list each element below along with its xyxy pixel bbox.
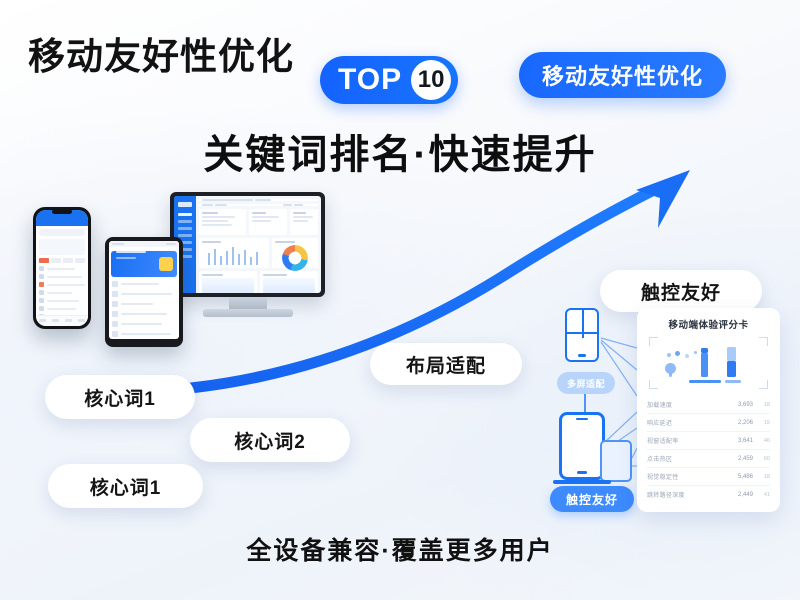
metric-value: 2,459	[731, 456, 753, 462]
tablet-hero-banner	[111, 251, 177, 277]
metric-delta: 15	[758, 420, 770, 426]
metric-name: 视窗适配率	[647, 436, 726, 445]
metric-delta: 41	[758, 492, 770, 498]
metric-name: 视觉稳定性	[647, 472, 726, 481]
phone-search-field	[39, 229, 85, 236]
table-row: 跳转路径深度 2,449 41	[647, 486, 770, 503]
dashboard-card	[199, 209, 246, 235]
list-item	[36, 290, 88, 295]
dashboard-area-chart	[199, 271, 257, 293]
dashboard-area-chart	[260, 271, 318, 293]
desktop-monitor-mockup	[170, 192, 325, 317]
touch-friendly-blue-pill: 触控友好	[550, 486, 634, 512]
donut-chart-icon	[282, 245, 308, 271]
dashboard-content	[196, 196, 321, 293]
list-item	[36, 266, 88, 271]
list-item	[112, 311, 176, 317]
dashboard-card	[290, 209, 318, 235]
page-title: 移动友好性优化	[28, 26, 294, 80]
score-illustration	[649, 337, 768, 389]
tablet-hero-badge	[159, 257, 173, 271]
dashboard-card-row	[199, 209, 318, 235]
metric-value: 3,641	[731, 438, 753, 444]
score-card-title: 移动端体验评分卡	[647, 317, 770, 331]
tablet-icon	[600, 440, 632, 482]
table-row: 加载速度 3,693 18	[647, 396, 770, 414]
dashboard-donut-chart	[272, 238, 318, 268]
dashboard-chart-row	[199, 238, 318, 268]
metric-delta: 60	[758, 456, 770, 462]
top-badge-number: 10	[411, 60, 451, 100]
phone-promo-card	[39, 239, 85, 255]
mobile-experience-panel: 多屏适配 触控友好 移动端体验评分卡	[545, 300, 780, 512]
metric-delta: 46	[758, 438, 770, 444]
top-badge-label: TOP	[338, 65, 402, 95]
multi-screen-pill: 多屏适配	[557, 372, 615, 394]
list-item	[112, 331, 176, 337]
score-card: 移动端体验评分卡 加载速度 3,693	[637, 308, 780, 512]
dashboard-area-row	[199, 271, 318, 293]
dashboard-card	[249, 209, 287, 235]
phone-tabbar	[36, 315, 88, 326]
table-row: 点击热区 2,459 60	[647, 450, 770, 468]
metric-delta: 18	[758, 474, 770, 480]
table-row: 视窗适配率 3,641 46	[647, 432, 770, 450]
phone-mockup	[33, 207, 91, 329]
metric-value: 2,449	[731, 492, 753, 498]
area-chart-icon	[263, 278, 315, 293]
metric-delta: 18	[758, 402, 770, 408]
monitor-stand-foot	[203, 309, 293, 317]
list-item	[112, 281, 176, 287]
metric-name: 点击热区	[647, 454, 726, 463]
keyword-pill-1: 核心词1	[45, 375, 195, 419]
header-blue-pill-label: 移动友好性优化	[542, 59, 703, 91]
list-item	[36, 282, 88, 287]
bar-chart-icon	[202, 245, 266, 265]
device-mockups	[25, 192, 325, 392]
dashboard-menu-item	[178, 213, 192, 216]
dashboard-menu-item	[178, 234, 192, 237]
phone-chip-row	[36, 258, 88, 266]
list-item	[36, 274, 88, 279]
dashboard-menu-item	[178, 227, 192, 230]
phone-icon	[559, 412, 605, 480]
metric-value: 2,206	[731, 420, 753, 426]
dashboard-menu-item	[178, 220, 192, 223]
dashboard-bar-chart	[199, 238, 269, 268]
footer-caption: 全设备兼容·覆盖更多用户	[0, 531, 800, 567]
metric-name: 跳转路径深度	[647, 490, 726, 499]
split-screen-phone-icon	[565, 308, 599, 362]
keyword-pill-2: 核心词2	[190, 418, 350, 462]
keyword-pill-3: 核心词1	[48, 464, 203, 508]
metric-name: 加载速度	[647, 400, 726, 409]
dashboard-searchbar	[199, 199, 318, 201]
tablet-screen	[109, 241, 179, 339]
tablet-mockup	[105, 237, 183, 347]
phone-notch	[52, 209, 72, 214]
list-item	[112, 291, 176, 297]
dashboard-logo	[178, 202, 192, 207]
area-chart-icon	[202, 278, 254, 293]
table-row: 响应延迟 2,206 15	[647, 414, 770, 432]
poster-canvas: 移动友好性优化 TOP 10 移动友好性优化 关键词排名·快速提升	[0, 0, 800, 600]
table-row: 视觉稳定性 5,486 18	[647, 468, 770, 486]
header-blue-pill: 移动友好性优化	[519, 52, 726, 98]
tablet-statusbar	[109, 241, 179, 247]
dashboard-toolbar	[199, 204, 318, 206]
metric-value: 3,693	[731, 402, 753, 408]
list-item	[112, 321, 176, 327]
monitor-screen	[174, 196, 321, 293]
laptop-base-icon	[553, 480, 611, 484]
monitor-bezel	[170, 192, 325, 297]
metric-value: 5,486	[731, 474, 753, 480]
phone-screen	[36, 210, 88, 326]
score-table: 加载速度 3,693 18 响应延迟 2,206 15 视窗适配率 3,641 …	[647, 396, 770, 503]
list-item	[36, 306, 88, 311]
tablet-list	[109, 279, 179, 339]
device-diagram: 多屏适配 触控友好	[545, 300, 650, 512]
layout-fit-pill: 布局适配	[370, 343, 522, 385]
list-item	[112, 301, 176, 307]
metric-name: 响应延迟	[647, 418, 726, 427]
list-item	[36, 298, 88, 303]
top10-badge: TOP 10	[320, 56, 458, 104]
